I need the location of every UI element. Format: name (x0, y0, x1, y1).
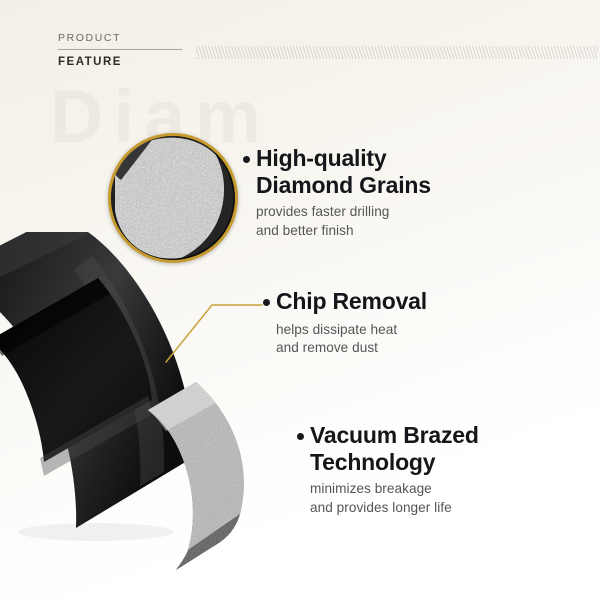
bullet-icon (243, 156, 250, 163)
feature-desc-line2: and better finish (256, 222, 431, 241)
feature-block-vacuum-brazed-technology: Vacuum Brazed Technology minimizes break… (297, 422, 479, 517)
product-feature-infographic: Diam PRODUCT FEATURE (0, 0, 600, 600)
hatch-pattern-decoration (196, 46, 598, 59)
feature-desc-line2: and remove dust (276, 339, 427, 358)
feature-title-line2: Technology (310, 449, 479, 476)
feature-description: helps dissipate heat and remove dust (276, 321, 427, 358)
header-eyebrow: PRODUCT (58, 31, 258, 45)
magnified-grain-texture (111, 136, 235, 260)
feature-description: provides faster drilling and better fini… (256, 203, 431, 240)
feature-title: Chip Removal (276, 288, 427, 315)
feature-desc-line1: provides faster drilling (256, 204, 389, 219)
feature-description: minimizes breakage and provides longer l… (310, 480, 479, 517)
feature-desc-line1: minimizes breakage (310, 481, 432, 496)
feature-block-chip-removal: Chip Removal helps dissipate heat and re… (263, 288, 427, 358)
feature-title: High-quality Diamond Grains (256, 145, 431, 198)
bullet-icon (263, 299, 270, 306)
header-divider (58, 49, 182, 50)
magnified-diamond-grain-circle (108, 133, 238, 263)
feature-desc-line2: and provides longer life (310, 499, 479, 518)
feature-title-line1: Vacuum Brazed (310, 422, 479, 448)
feature-title-line1: High-quality (256, 145, 386, 171)
feature-title-row: Chip Removal (263, 288, 427, 315)
feature-title: Vacuum Brazed Technology (310, 422, 479, 475)
feature-title-line2: Diamond Grains (256, 172, 431, 199)
bullet-icon (297, 433, 304, 440)
feature-title-row: Vacuum Brazed Technology (297, 422, 479, 475)
feature-block-high-quality-diamond-grains: High-quality Diamond Grains provides fas… (243, 145, 431, 240)
feature-title-row: High-quality Diamond Grains (243, 145, 431, 198)
feature-desc-line1: helps dissipate heat (276, 322, 397, 337)
feature-title-line1: Chip Removal (276, 288, 427, 314)
